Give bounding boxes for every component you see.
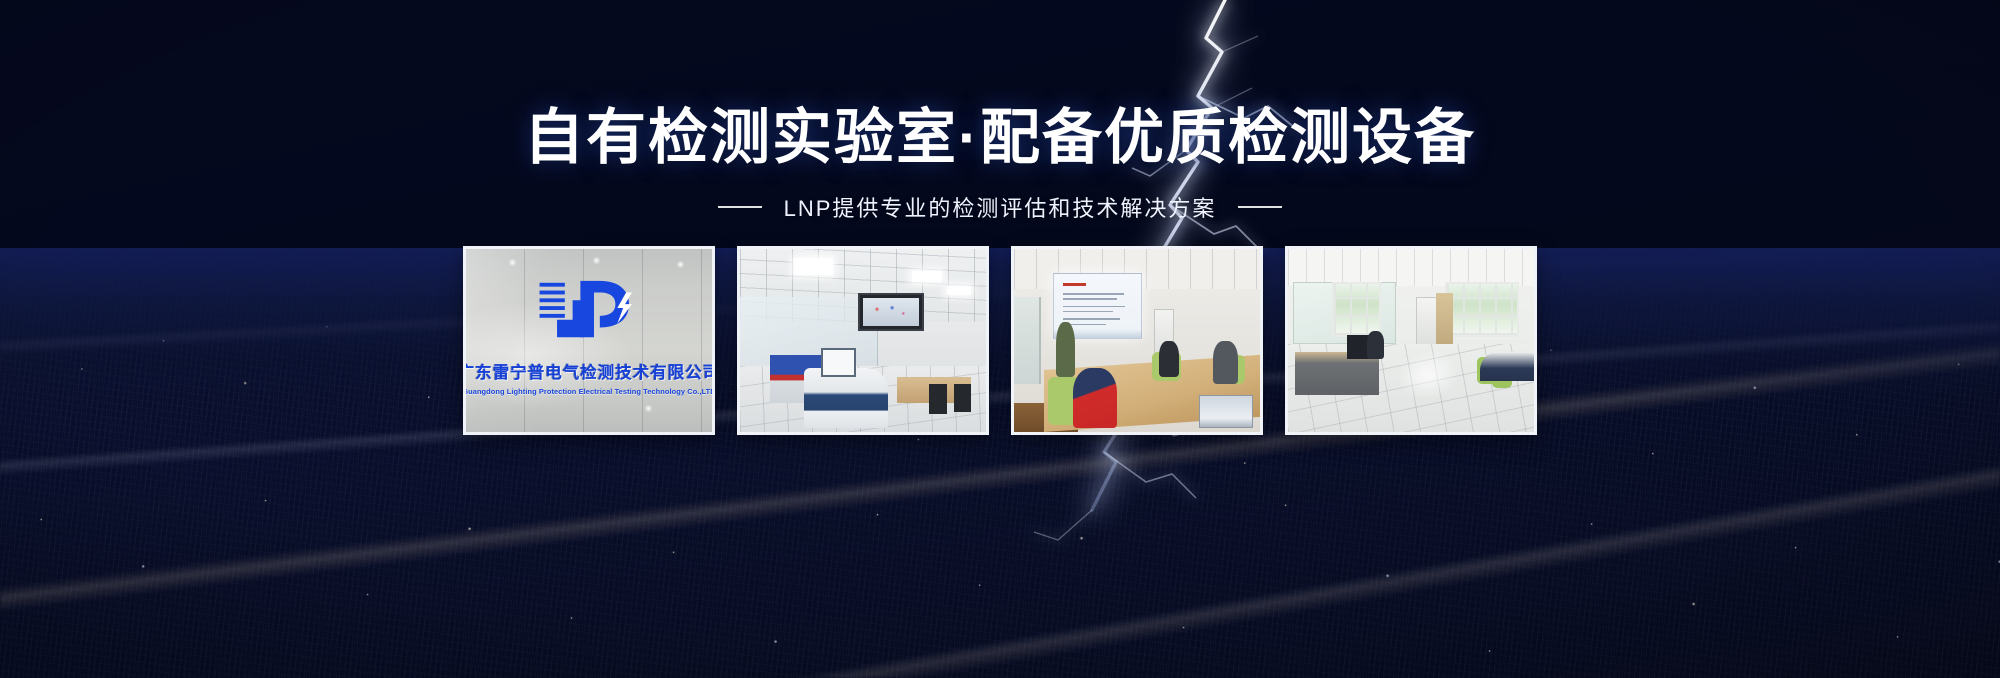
office-shelf (1436, 293, 1453, 348)
photo-gallery: 广东雷宁普电气检测技术有限公司 Guangdong Lighting Prote… (0, 246, 2000, 435)
photo-3-scene (1014, 249, 1260, 432)
rule-left-decoration (718, 206, 762, 208)
hero-banner: 自有检测实验室·配备优质检测设备 LNP提供专业的检测评估和技术解决方案 (0, 0, 2000, 678)
gallery-photo-lnp-sign-wall[interactable]: 广东雷宁普电气检测技术有限公司 Guangdong Lighting Prote… (463, 246, 715, 435)
office-ceiling (1288, 249, 1534, 286)
gallery-photo-meeting-presentation[interactable] (1011, 246, 1263, 435)
presenter-standing (1056, 322, 1076, 377)
photo-1-scene: 广东雷宁普电气检测技术有限公司 Guangdong Lighting Prote… (466, 249, 712, 432)
lab-console-monitor (821, 348, 855, 377)
attendee-middle (1159, 341, 1179, 378)
meeting-laptop (1199, 395, 1253, 428)
subtitle-row: LNP提供专业的检测评估和技术解决方案 (0, 191, 2000, 223)
gallery-photo-office-reception[interactable] (1285, 246, 1537, 435)
office-monitor (1347, 335, 1369, 359)
logo-company-name-en: Guangdong Lighting Protection Electrical… (463, 387, 715, 396)
attendee-front (1073, 368, 1117, 428)
office-worker (1367, 331, 1384, 358)
page-title: 自有检测实验室·配备优质检测设备 (0, 104, 2000, 171)
lnp-logo-icon (535, 275, 653, 345)
rule-right-decoration (1238, 206, 1282, 208)
hero-text-block: 自有检测实验室·配备优质检测设备 LNP提供专业的检测评估和技术解决方案 (0, 104, 2000, 223)
attendee-right (1213, 341, 1238, 385)
logo-company-name-cn: 广东雷宁普电气检测技术有限公司 (463, 359, 715, 383)
photo-2-scene (740, 249, 986, 432)
photo-4-scene (1288, 249, 1534, 432)
office-reception-counter (1480, 352, 1534, 381)
lab-wall-display (858, 293, 924, 331)
page-subtitle: LNP提供专业的检测评估和技术解决方案 (784, 191, 1217, 223)
meeting-door (1014, 297, 1041, 385)
gallery-photo-testing-laboratory[interactable] (737, 246, 989, 435)
